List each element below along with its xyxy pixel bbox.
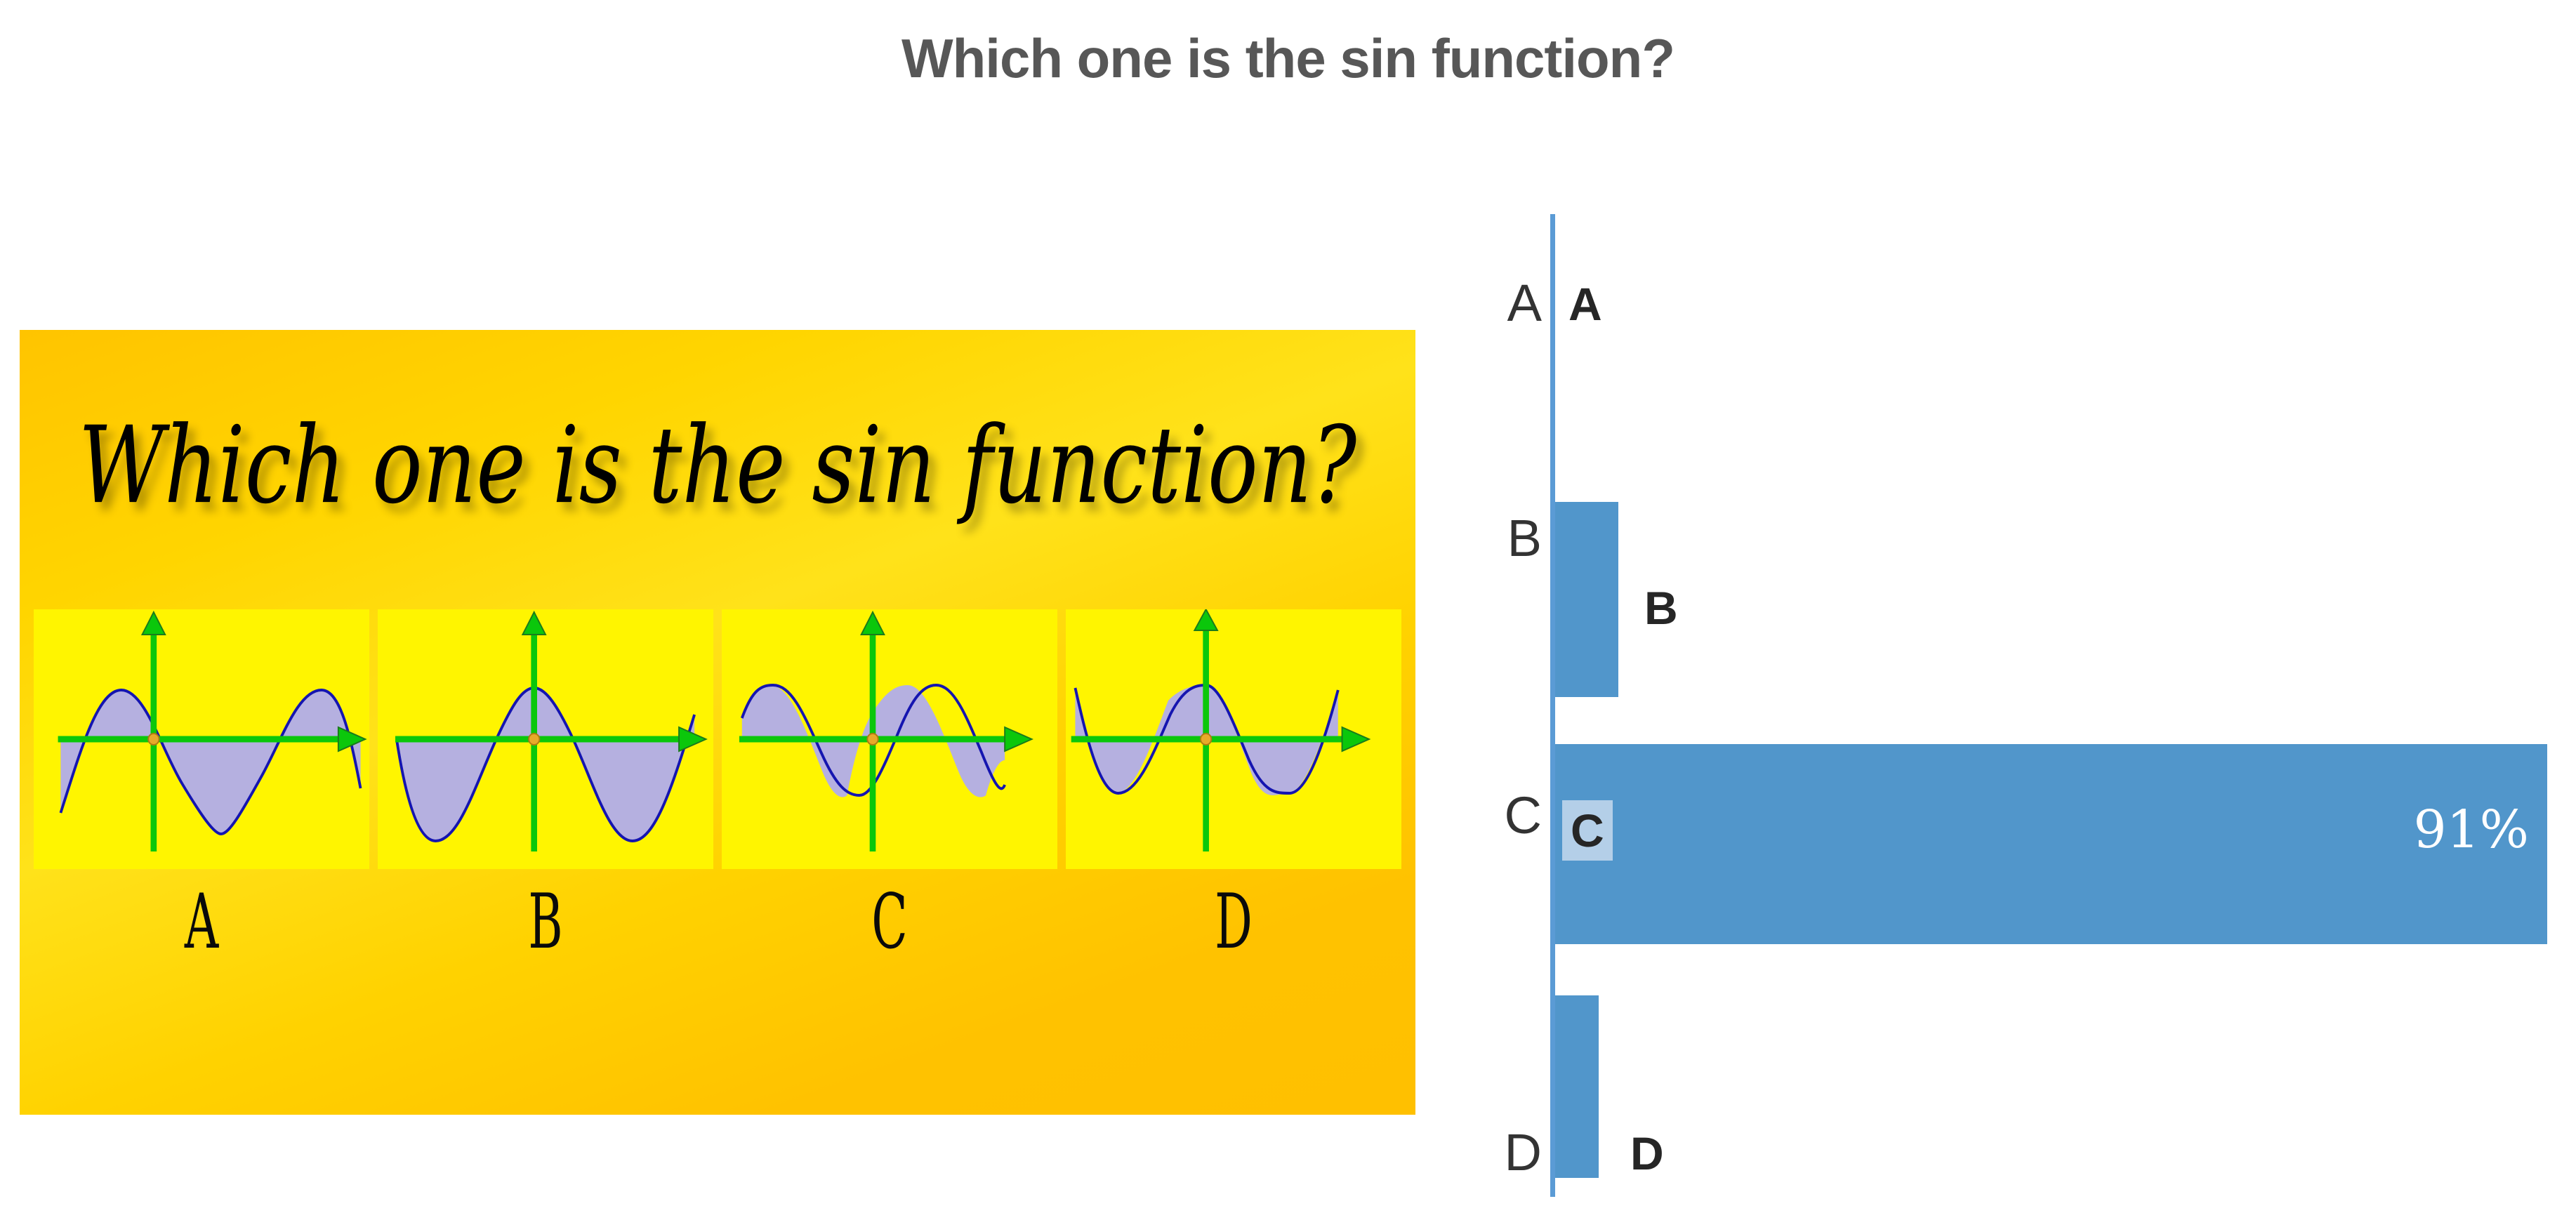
graph-option-a xyxy=(34,609,369,869)
slide-option-letter-row: A B C D xyxy=(34,884,1401,960)
poll-row-b[interactable]: B B xyxy=(1474,414,2570,667)
slide-option-letter-b: B xyxy=(442,884,649,960)
axis-label-a: A xyxy=(1474,277,1542,329)
poll-row-a[interactable]: A A xyxy=(1474,204,2570,414)
bar-label-d: D xyxy=(1622,1123,1672,1184)
poll-results-chart: A A B B C C 91% D D xyxy=(1474,204,2570,1200)
wave-graph-icon xyxy=(378,609,713,869)
slide-option-letter-a: A xyxy=(98,884,305,960)
slide-cursive-title: Which one is the sin function? xyxy=(48,404,1387,528)
graph-option-c xyxy=(722,609,1057,869)
bar-label-a: A xyxy=(1560,274,1611,334)
axis-label-d: D xyxy=(1474,1127,1542,1179)
wave-graph-icon xyxy=(1066,609,1401,869)
poll-row-c[interactable]: C C 91% xyxy=(1474,667,2570,948)
bar-value-c: 91% xyxy=(2338,804,2529,856)
bar-label-b: B xyxy=(1636,578,1686,638)
wave-graph-icon xyxy=(34,609,369,869)
slide-thumbnail[interactable]: Which one is the sin function? xyxy=(20,330,1415,1115)
poll-row-d[interactable]: D D xyxy=(1474,948,2570,1200)
slide-graph-row xyxy=(34,609,1401,869)
wave-graph-icon xyxy=(722,609,1057,869)
bar-d[interactable] xyxy=(1555,995,1599,1178)
bar-label-c: C xyxy=(1562,800,1613,861)
graph-option-b xyxy=(378,609,713,869)
slide-option-letter-d: D xyxy=(1130,884,1337,960)
axis-label-b: B xyxy=(1474,512,1542,564)
page-title: Which one is the sin function? xyxy=(0,27,2576,91)
slide-option-letter-c: C xyxy=(786,884,993,960)
graph-option-d xyxy=(1066,609,1401,869)
axis-label-c: C xyxy=(1474,790,1542,842)
